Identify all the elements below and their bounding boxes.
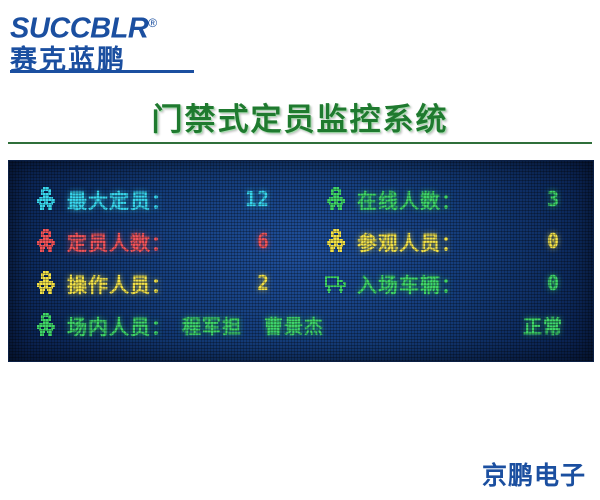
led-row: 最大定员： 12 在线人数： 3: [9, 183, 593, 215]
led-field-staff-quota: 定员人数： 6: [9, 225, 299, 257]
led-value: 12: [245, 187, 269, 211]
led-label: 场内人员：: [67, 311, 172, 340]
logo-underline-divider: [10, 70, 194, 73]
led-row: 定员人数： 6 参观人员： 0: [9, 225, 593, 257]
led-field-entered-vehicles: 入场车辆： 0: [299, 267, 589, 299]
led-label: 入场车辆：: [357, 269, 462, 298]
led-content-grid: 最大定员： 12 在线人数： 3: [9, 183, 593, 341]
led-field-online-count: 在线人数： 3: [299, 183, 589, 215]
list-item: 程军担: [182, 312, 242, 339]
person-cyan-icon: [33, 186, 59, 212]
led-field-operator-count: 操作人员： 2: [9, 267, 299, 299]
led-label: 定员人数：: [67, 227, 172, 256]
registered-trademark-icon: ®: [148, 16, 156, 30]
title-divider: [8, 142, 592, 144]
logo-english-label: SUCCBLR: [10, 13, 148, 45]
led-value: 0: [547, 271, 559, 295]
people-inside-name-list: 程军担 曹景杰: [182, 312, 523, 339]
led-value: 2: [257, 271, 269, 295]
led-row: 操作人员： 2: [9, 267, 593, 299]
logo-english-text: SUCCBLR®: [10, 8, 220, 44]
led-display-panel: 最大定员： 12 在线人数： 3: [8, 160, 594, 362]
led-value: 0: [547, 229, 559, 253]
led-value: 6: [257, 229, 269, 253]
led-label: 在线人数：: [357, 185, 462, 214]
led-field-max-capacity: 最大定员： 12: [9, 183, 299, 215]
led-field-people-inside: 场内人员： 程军担 曹景杰 正常: [9, 309, 593, 341]
led-value: 3: [547, 187, 559, 211]
status-badge: 正常: [523, 312, 563, 339]
truck-green-icon: [323, 270, 349, 296]
led-field-visitor-count: 参观人员： 0: [299, 225, 589, 257]
person-yellow-icon: [323, 228, 349, 254]
led-label: 操作人员：: [67, 269, 172, 298]
person-green-icon: [33, 312, 59, 338]
list-item: 曹景杰: [264, 312, 324, 339]
footer-brand-label: 京鹏电子: [482, 456, 586, 492]
person-yellow-icon: [33, 270, 59, 296]
company-logo: SUCCBLR® 赛克蓝鹏: [10, 8, 220, 70]
led-label: 最大定员：: [67, 185, 172, 214]
led-label: 参观人员：: [357, 227, 462, 256]
person-red-icon: [33, 228, 59, 254]
person-green-icon: [323, 186, 349, 212]
page-title: 门禁式定员监控系统: [0, 94, 600, 139]
